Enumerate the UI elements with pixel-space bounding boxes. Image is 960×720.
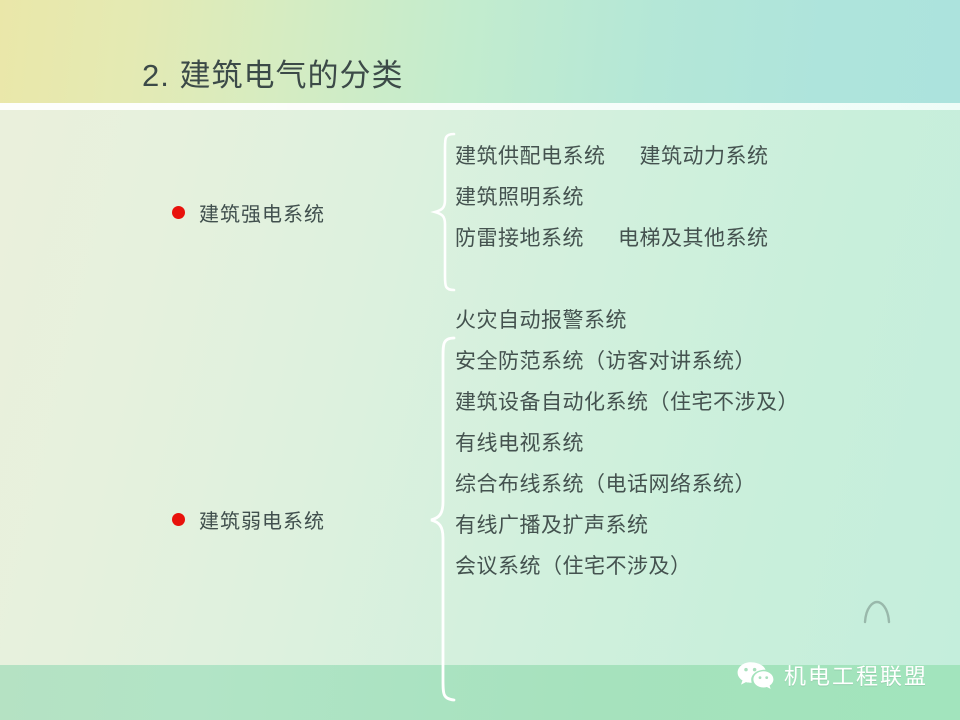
list-item: 安全防范系统（访客对讲系统） xyxy=(455,339,799,380)
list-item: 综合布线系统（电话网络系统） xyxy=(455,462,799,503)
footer-brand: 机电工程联盟 xyxy=(735,655,928,695)
list-item: 建筑供配电系统 建筑动力系统 xyxy=(455,134,769,175)
list-item-text: 有线广播及扩声系统 xyxy=(455,509,649,539)
list-item-text: 安全防范系统（访客对讲系统） xyxy=(455,345,756,375)
list-item-text: 建筑设备自动化系统（住宅不涉及） xyxy=(455,386,799,416)
wechat-icon xyxy=(735,659,775,691)
list-item: 建筑照明系统 xyxy=(455,175,769,216)
category-label-weak: 建筑弱电系统 xyxy=(199,505,325,534)
slide-canvas: 2. 建筑电气的分类 建筑强电系统 建筑供配电系统 建筑动力系统 建筑照明系统 … xyxy=(0,0,960,720)
list-item-text: 建筑照明系统 xyxy=(455,181,584,211)
items-weak-electrical: 火灾自动报警系统 安全防范系统（访客对讲系统） 建筑设备自动化系统（住宅不涉及）… xyxy=(455,298,799,585)
list-item-text-secondary: 建筑动力系统 xyxy=(640,140,769,170)
list-item-text: 建筑供配电系统 xyxy=(455,140,606,170)
list-item-text: 综合布线系统（电话网络系统） xyxy=(455,468,756,498)
list-item-text: 会议系统（住宅不涉及） xyxy=(455,550,692,580)
list-item: 有线电视系统 xyxy=(455,421,799,462)
list-item-text: 火灾自动报警系统 xyxy=(455,304,627,334)
red-dot-bullet-icon xyxy=(172,206,185,219)
list-item-text: 防雷接地系统 xyxy=(455,222,584,252)
list-item: 火灾自动报警系统 xyxy=(455,298,799,339)
brand-name: 机电工程联盟 xyxy=(784,659,928,691)
arc-watermark-icon xyxy=(862,600,892,624)
category-label-strong: 建筑强电系统 xyxy=(199,198,325,227)
page-title: 2. 建筑电气的分类 xyxy=(142,57,403,95)
items-strong-electrical: 建筑供配电系统 建筑动力系统 建筑照明系统 防雷接地系统 电梯及其他系统 xyxy=(455,134,769,257)
list-item: 防雷接地系统 电梯及其他系统 xyxy=(455,216,769,257)
category-weak-electrical: 建筑弱电系统 xyxy=(172,505,325,534)
list-item-text-secondary: 电梯及其他系统 xyxy=(618,222,769,252)
header-divider xyxy=(0,103,960,110)
list-item: 会议系统（住宅不涉及） xyxy=(455,544,799,585)
red-dot-bullet-icon xyxy=(172,513,185,526)
list-item: 有线广播及扩声系统 xyxy=(455,503,799,544)
category-strong-electrical: 建筑强电系统 xyxy=(172,198,325,227)
list-item: 建筑设备自动化系统（住宅不涉及） xyxy=(455,380,799,421)
list-item-text: 有线电视系统 xyxy=(455,427,584,457)
